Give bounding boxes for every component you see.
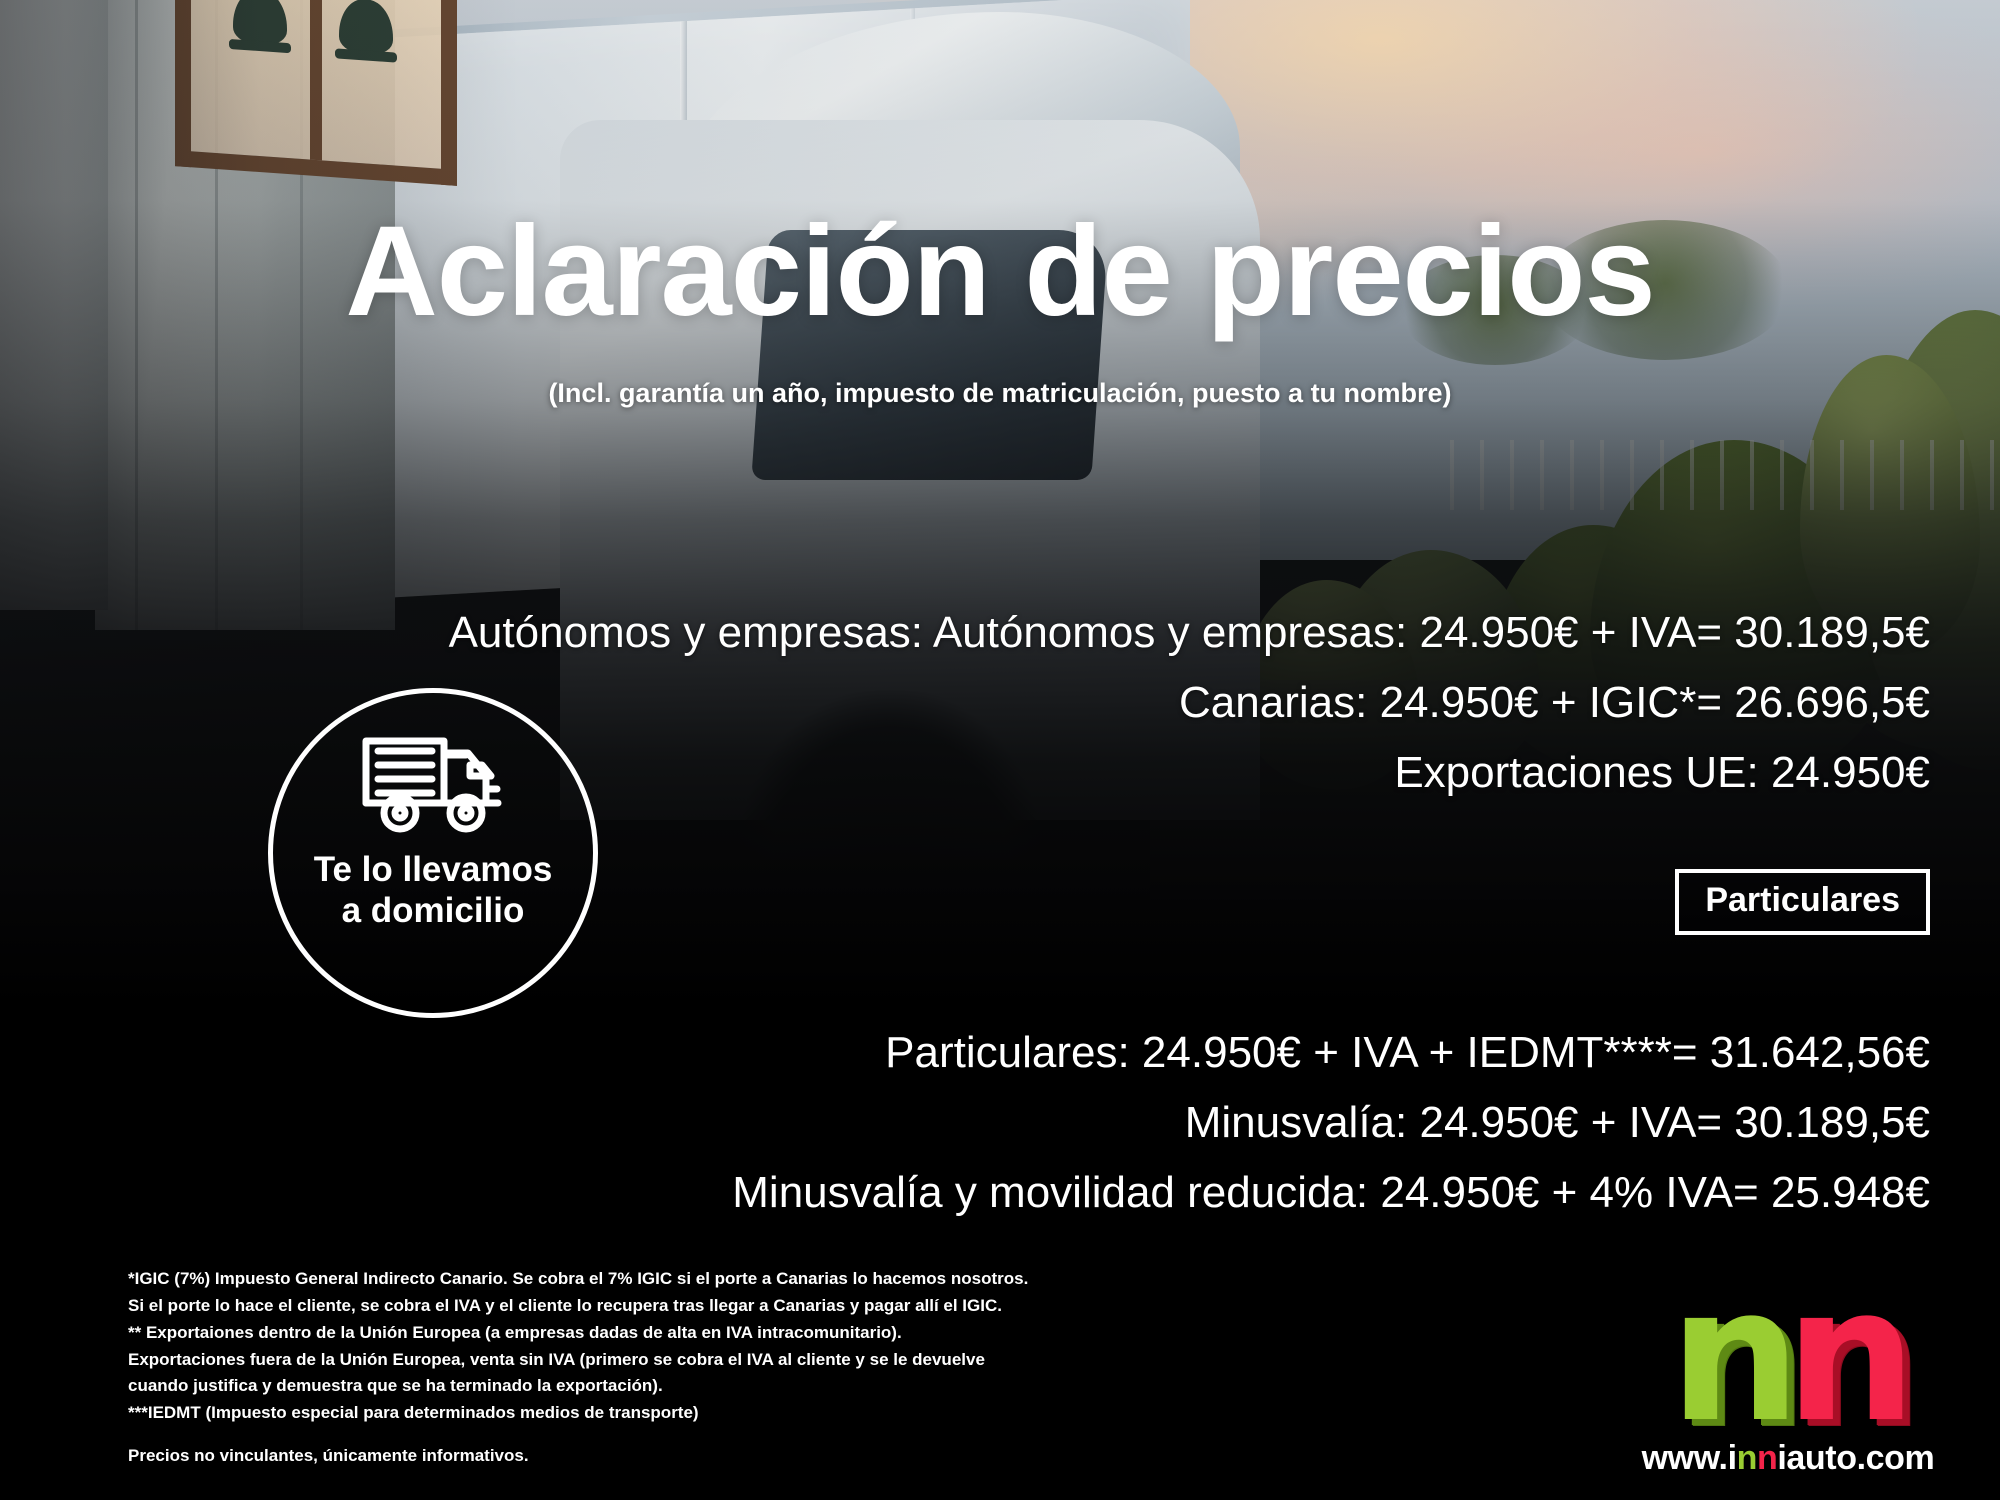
delivery-badge-line1: Te lo llevamos (314, 849, 553, 890)
footnote-line: ** Exportaiones dentro de la Unión Europ… (128, 1320, 1028, 1347)
price-line-particulares: Particulares: 24.950€ + IVA + IEDMT****=… (230, 1018, 1930, 1088)
footnote-line: ***IEDMT (Impuesto especial para determi… (128, 1400, 1028, 1427)
logo-letter-n-red: n (1785, 1283, 1907, 1427)
delivery-badge-text: Te lo llevamos a domicilio (314, 849, 553, 932)
footnote-spacer (128, 1427, 1028, 1443)
price-line-canarias: Canarias: 24.950€ + IGIC*= 26.696,5€ (330, 668, 1930, 738)
footnote-line: cuando justifica y demuestra que se ha t… (128, 1373, 1028, 1400)
footnote-line: Exportaciones fuera de la Unión Europea,… (128, 1347, 1028, 1374)
logo-letter-n-green: n (1669, 1283, 1791, 1427)
logo-mark: nn (1628, 1275, 1948, 1427)
brand-logo[interactable]: nn www.inniauto.com (1628, 1275, 1948, 1478)
page-subtitle: (Incl. garantía un año, impuesto de matr… (0, 378, 2000, 409)
status-badge-particulares: Particulares (1675, 869, 1930, 935)
footnote-line: *IGIC (7%) Impuesto General Indirecto Ca… (128, 1266, 1028, 1293)
price-clarification-poster: Aclaración de precios (Incl. garantía un… (0, 0, 2000, 1500)
price-line-exportaciones-ue: Exportaciones UE: 24.950€ (330, 738, 1930, 808)
footnote-disclaimer: Precios no vinculantes, únicamente infor… (128, 1443, 1028, 1470)
private-prices-group: Particulares: 24.950€ + IVA + IEDMT****=… (230, 1018, 1930, 1228)
footnote-line: Si el porte lo hace el cliente, se cobra… (128, 1293, 1028, 1320)
price-line-minusvalia-movilidad: Minusvalía y movilidad reducida: 24.950€… (230, 1158, 1930, 1228)
business-prices-group: Autónomos y empresas: Autónomos y empres… (330, 598, 1930, 808)
price-line-autonomos: Autónomos y empresas: Autónomos y empres… (330, 598, 1930, 668)
page-title: Aclaración de precios (0, 208, 2000, 336)
price-line-minusvalia: Minusvalía: 24.950€ + IVA= 30.189,5€ (230, 1088, 1930, 1158)
footnotes-block: *IGIC (7%) Impuesto General Indirecto Ca… (128, 1266, 1028, 1470)
delivery-badge-line2: a domicilio (314, 890, 553, 931)
